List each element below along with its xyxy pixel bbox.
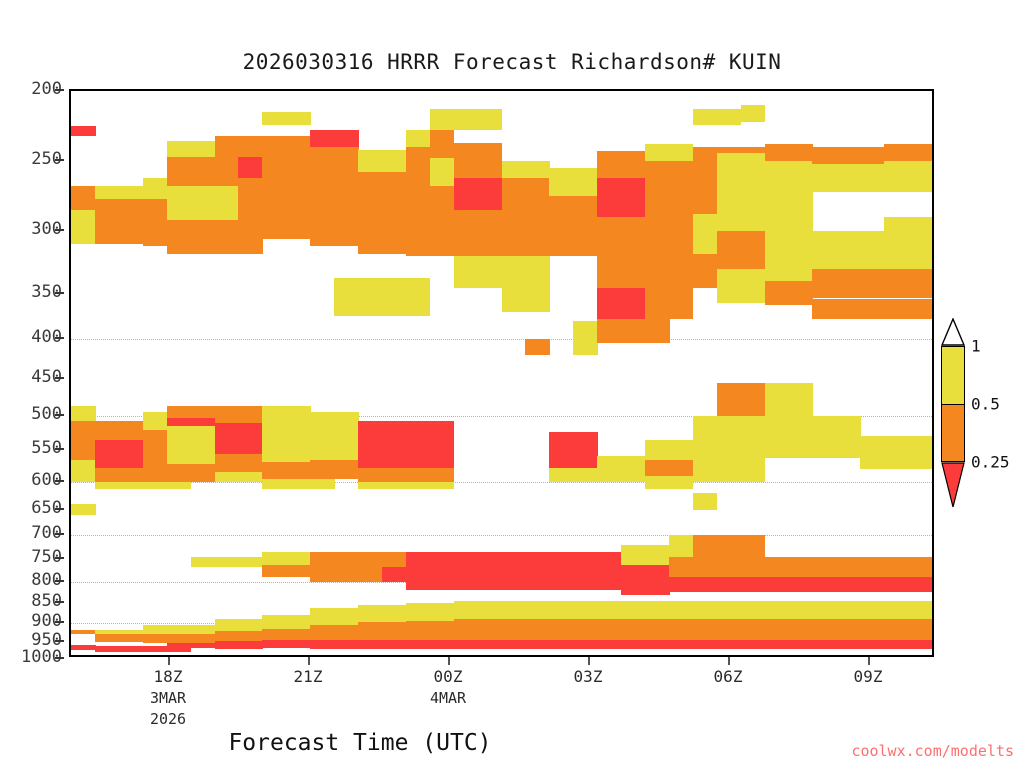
heatmap-cell: [645, 319, 670, 343]
heatmap-cell: [406, 147, 431, 178]
heatmap-cell: [454, 256, 479, 288]
y-tick-mark: [55, 508, 64, 510]
heatmap-cell: [454, 577, 479, 590]
heatmap-cell: [167, 464, 192, 482]
heatmap-cell: [334, 178, 359, 226]
heatmap-cell: [95, 440, 120, 468]
heatmap-cell: [669, 476, 694, 489]
heatmap-cell: [119, 646, 144, 651]
heatmap-cell: [836, 147, 861, 164]
y-tick-mark: [55, 448, 64, 450]
heatmap-cell: [621, 178, 646, 217]
heatmap-cell: [597, 319, 622, 343]
heatmap-cell: [645, 281, 670, 319]
y-tick-mark: [55, 292, 64, 294]
heatmap-cell: [573, 168, 598, 196]
heatmap-cell: [382, 172, 407, 196]
heatmap-cell: [812, 299, 837, 320]
x-tick-label: 18Z: [154, 667, 183, 686]
y-tick-mark: [55, 89, 64, 91]
heatmap-cell: [789, 601, 814, 619]
heatmap-cell: [71, 645, 96, 650]
heatmap-cell: [645, 545, 670, 565]
heatmap-cell: [597, 619, 622, 640]
heatmap-cell: [71, 126, 96, 136]
heatmap-cell: [645, 476, 670, 489]
heatmap-cell: [549, 432, 574, 449]
heatmap-cell: [430, 552, 455, 578]
heatmap-cell: [549, 577, 574, 590]
heatmap-cell: [884, 269, 909, 299]
heatmap-cell: [215, 406, 240, 422]
heatmap-cell: [238, 136, 263, 157]
y-tick-mark: [55, 580, 64, 582]
heatmap-cell: [143, 199, 168, 246]
heatmap-cell: [286, 406, 311, 419]
heatmap-cell: [789, 161, 814, 186]
heatmap-cell: [693, 601, 718, 619]
heatmap-cell: [789, 400, 814, 416]
heatmap-cell: [382, 231, 407, 254]
heatmap-cell: [765, 383, 790, 400]
x-tick-label: 03Z: [574, 667, 603, 686]
heatmap-cell: [358, 552, 383, 567]
heatmap-cell: [549, 552, 574, 578]
heatmap-cell: [908, 577, 932, 592]
heatmap-cell: [358, 278, 383, 316]
heatmap-cell: [525, 601, 550, 619]
heatmap-cell: [262, 615, 287, 629]
heatmap-cell: [502, 256, 527, 288]
heatmap-cell: [525, 256, 550, 288]
heatmap-cell: [334, 552, 359, 567]
heatmap-cell: [621, 619, 646, 640]
heatmap-cell: [430, 130, 455, 158]
heatmap-cell: [741, 383, 766, 400]
heatmap-cell: [693, 214, 718, 253]
heatmap-cell: [310, 552, 335, 567]
y-tick-mark: [55, 414, 64, 416]
heatmap-cell: [262, 479, 287, 488]
heatmap-cell: [645, 565, 670, 582]
heatmap-cell: [167, 648, 192, 652]
x-tick-mark: [868, 657, 870, 665]
heatmap-cell: [645, 161, 670, 196]
heatmap-cell: [717, 269, 742, 303]
heatmap-cell: [621, 217, 646, 256]
heatmap-cell: [286, 565, 311, 578]
colorbar-tick-label: 1: [971, 337, 981, 356]
heatmap-cell: [238, 220, 263, 254]
heatmap-cell: [621, 256, 646, 288]
heatmap-cell: [860, 269, 885, 299]
heatmap-cell: [597, 151, 622, 178]
heatmap-cell: [741, 400, 766, 416]
heatmap-cell: [406, 482, 431, 489]
heatmap-cell: [693, 436, 718, 457]
heatmap-cell: [836, 436, 861, 457]
heatmap-cell: [286, 136, 311, 178]
heatmap-cell: [717, 640, 742, 649]
heatmap-cell: [215, 557, 240, 567]
heatmap-cell: [836, 601, 861, 619]
x-tick-label: 09Z: [854, 667, 883, 686]
heatmap-cell: [693, 640, 718, 649]
heatmap-cell: [143, 464, 168, 482]
heatmap-cell: [860, 458, 885, 470]
heatmap-cell: [382, 150, 407, 172]
heatmap-cell: [717, 416, 742, 436]
heatmap-cell: [262, 552, 287, 565]
heatmap-cell: [143, 178, 168, 199]
heatmap-cell: [382, 196, 407, 231]
heatmap-cell: [908, 436, 932, 457]
heatmap-cell: [262, 178, 287, 220]
heatmap-cell: [741, 436, 766, 457]
y-tick-mark: [55, 159, 64, 161]
y-tick-mark: [55, 533, 64, 535]
heatmap-cell: [430, 577, 455, 590]
x-tick-mark: [448, 657, 450, 665]
x-axis-title: Forecast Time (UTC): [0, 730, 720, 756]
heatmap-cell: [286, 462, 311, 480]
heatmap-cell: [717, 601, 742, 619]
heatmap-cell: [143, 646, 168, 651]
heatmap-cell: [836, 619, 861, 640]
heatmap-cell: [95, 199, 120, 244]
x-tick-sublabel: 2026: [150, 710, 186, 728]
heatmap-cell: [238, 454, 263, 473]
heatmap-cell: [573, 619, 598, 640]
heatmap-cell: [502, 577, 527, 590]
heatmap-cell: [238, 178, 263, 220]
heatmap-cell: [573, 449, 598, 468]
heatmap-cell: [789, 557, 814, 578]
heatmap-cell: [502, 640, 527, 649]
heatmap-cell: [645, 640, 670, 649]
heatmap-cell: [502, 288, 527, 312]
heatmap-cell: [382, 421, 407, 443]
heatmap-cell: [597, 456, 622, 472]
heatmap-cell: [645, 582, 670, 595]
heatmap-cell: [286, 552, 311, 565]
heatmap-cell: [645, 601, 670, 619]
heatmap-cell: [693, 416, 718, 436]
heatmap-cell: [191, 634, 216, 642]
heatmap-cell: [693, 557, 718, 578]
heatmap-cell: [430, 186, 455, 231]
heatmap-cell: [167, 418, 192, 426]
heatmap-cell: [741, 153, 766, 187]
y-axis: 2002503003504004505005506006507007508008…: [0, 89, 62, 657]
heatmap-cell: [693, 577, 718, 592]
x-tick-mark: [168, 657, 170, 665]
heatmap-cell: [358, 172, 383, 196]
heatmap-cell: [502, 178, 527, 210]
heatmap-cell: [884, 577, 909, 592]
heatmap-cell: [310, 625, 335, 640]
heatmap-cell: [573, 321, 598, 343]
heatmap-cell: [884, 436, 909, 457]
heatmap-cell: [765, 161, 790, 186]
heatmap-cell: [478, 178, 503, 210]
y-tick-mark: [55, 229, 64, 231]
x-tick-label: 21Z: [294, 667, 323, 686]
heatmap-cell: [812, 557, 837, 578]
heatmap-cell: [71, 210, 96, 244]
heatmap-cell: [549, 196, 574, 231]
heatmap-cell: [908, 601, 932, 619]
heatmap-cell: [621, 288, 646, 320]
heatmap-cell: [741, 105, 766, 122]
colorbar-arrow-up: [941, 318, 965, 346]
plot-canvas: [71, 91, 932, 655]
heatmap-cell: [406, 577, 431, 590]
heatmap-cell: [262, 406, 287, 419]
heatmap-cell: [645, 144, 670, 161]
gridline: [71, 339, 932, 340]
heatmap-cell: [430, 443, 455, 468]
heatmap-cell: [119, 199, 144, 244]
heatmap-cell: [621, 472, 646, 482]
heatmap-cell: [238, 423, 263, 454]
heatmap-cell: [884, 601, 909, 619]
heatmap-cell: [573, 196, 598, 231]
x-tick-mark: [308, 657, 310, 665]
heatmap-cell: [908, 458, 932, 470]
heatmap-cell: [191, 141, 216, 156]
heatmap-cell: [215, 157, 240, 186]
heatmap-cell: [717, 436, 742, 457]
heatmap-cell: [765, 577, 790, 592]
heatmap-cell: [717, 383, 742, 400]
heatmap-cell: [430, 621, 455, 640]
heatmap-cell: [669, 144, 694, 161]
heatmap-cell: [358, 150, 383, 172]
heatmap-cell: [860, 164, 885, 192]
heatmap-cell: [860, 299, 885, 320]
heatmap-cell: [789, 577, 814, 592]
y-tick-mark: [55, 621, 64, 623]
heatmap-cell: [286, 112, 311, 125]
heatmap-cell: [406, 421, 431, 443]
heatmap-cell: [382, 482, 407, 489]
heatmap-cell: [765, 557, 790, 578]
heatmap-cell: [693, 172, 718, 214]
heatmap-cell: [502, 552, 527, 578]
heatmap-cell: [143, 482, 168, 489]
heatmap-cell: [549, 601, 574, 619]
heatmap-cell: [525, 178, 550, 210]
heatmap-cell: [71, 504, 96, 515]
heatmap-cell: [406, 231, 431, 256]
heatmap-cell: [789, 640, 814, 649]
heatmap-cell: [669, 440, 694, 460]
heatmap-cell: [286, 178, 311, 220]
heatmap-cell: [717, 400, 742, 416]
heatmap-cell: [789, 186, 814, 231]
heatmap-cell: [238, 619, 263, 631]
heatmap-cell: [884, 619, 909, 640]
heatmap-cell: [573, 601, 598, 619]
heatmap-cell: [860, 640, 885, 649]
heatmap-cell: [645, 196, 670, 237]
heatmap-cell: [789, 144, 814, 161]
heatmap-cell: [621, 565, 646, 582]
heatmap-cell: [789, 436, 814, 457]
heatmap-cell: [597, 178, 622, 217]
heatmap-cell: [741, 416, 766, 436]
heatmap-cell: [884, 161, 909, 192]
chart-root: 2026030316 HRRR Forecast Richardson# KUI…: [0, 0, 1024, 768]
heatmap-cell: [358, 640, 383, 649]
heatmap-cell: [358, 482, 383, 489]
heatmap-cell: [741, 535, 766, 557]
heatmap-cell: [310, 178, 335, 226]
heatmap-cell: [286, 629, 311, 640]
heatmap-cell: [238, 631, 263, 641]
heatmap-cell: [478, 552, 503, 578]
heatmap-cell: [95, 421, 120, 439]
heatmap-cell: [741, 640, 766, 649]
heatmap-cell: [406, 178, 431, 231]
heatmap-cell: [693, 147, 718, 172]
heatmap-cell: [382, 622, 407, 640]
heatmap-cell: [789, 231, 814, 281]
heatmap-cell: [525, 619, 550, 640]
heatmap-cell: [119, 468, 144, 482]
heatmap-cell: [238, 406, 263, 422]
heatmap-cell: [836, 416, 861, 436]
heatmap-cell: [71, 406, 96, 421]
heatmap-cell: [71, 630, 96, 635]
heatmap-cell: [478, 619, 503, 640]
heatmap-cell: [621, 545, 646, 565]
x-tick-mark: [588, 657, 590, 665]
heatmap-cell: [789, 281, 814, 304]
heatmap-cell: [191, 557, 216, 567]
heatmap-cell: [406, 621, 431, 640]
heatmap-cell: [310, 479, 335, 488]
heatmap-cell: [573, 343, 598, 355]
heatmap-cell: [454, 640, 479, 649]
heatmap-cell: [836, 640, 861, 649]
heatmap-cell: [884, 640, 909, 649]
heatmap-cell: [525, 288, 550, 312]
heatmap-cell: [765, 186, 790, 231]
heatmap-cell: [621, 319, 646, 343]
heatmap-cell: [334, 278, 359, 316]
heatmap-cell: [884, 299, 909, 320]
x-tick-sublabel: 4MAR: [430, 689, 466, 707]
heatmap-cell: [669, 161, 694, 196]
heatmap-cell: [789, 619, 814, 640]
heatmap-cell: [430, 482, 455, 489]
heatmap-cell: [502, 619, 527, 640]
heatmap-cell: [191, 186, 216, 220]
heatmap-cell: [717, 557, 742, 578]
heatmap-cell: [430, 231, 455, 256]
heatmap-cell: [310, 147, 335, 178]
heatmap-cell: [95, 646, 120, 651]
heatmap-cell: [191, 418, 216, 426]
heatmap-cell: [549, 640, 574, 649]
heatmap-cell: [358, 231, 383, 254]
colorbar-tick-label: 0.5: [971, 395, 1000, 414]
heatmap-cell: [765, 231, 790, 281]
plot-area: [69, 89, 934, 657]
heatmap-cell: [191, 464, 216, 482]
heatmap-cell: [597, 472, 622, 482]
heatmap-cell: [262, 419, 287, 461]
heatmap-cell: [358, 468, 383, 482]
heatmap-cell: [454, 210, 479, 256]
heatmap-cell: [812, 231, 837, 269]
heatmap-cell: [621, 601, 646, 619]
heatmap-cell: [908, 144, 932, 161]
x-tick-sublabel: 3MAR: [150, 689, 186, 707]
heatmap-cell: [621, 151, 646, 178]
heatmap-cell: [454, 552, 479, 578]
heatmap-cell: [334, 430, 359, 460]
heatmap-cell: [238, 641, 263, 649]
heatmap-cell: [597, 217, 622, 256]
heatmap-cell: [143, 625, 168, 634]
heatmap-cell: [765, 436, 790, 457]
heatmap-cell: [573, 468, 598, 482]
heatmap-cell: [669, 237, 694, 281]
heatmap-cell: [908, 619, 932, 640]
heatmap-cell: [597, 640, 622, 649]
heatmap-cell: [358, 443, 383, 468]
heatmap-cell: [669, 577, 694, 592]
heatmap-cell: [741, 601, 766, 619]
heatmap-cell: [884, 458, 909, 470]
heatmap-cell: [741, 557, 766, 578]
heatmap-cell: [430, 421, 455, 443]
heatmap-cell: [669, 557, 694, 578]
heatmap-cell: [262, 640, 287, 648]
heatmap-cell: [286, 640, 311, 648]
heatmap-cell: [765, 416, 790, 436]
heatmap-cell: [262, 462, 287, 480]
heatmap-cell: [215, 619, 240, 631]
heatmap-cell: [860, 601, 885, 619]
heatmap-cell: [884, 557, 909, 578]
heatmap-cell: [573, 640, 598, 649]
heatmap-cell: [717, 577, 742, 592]
heatmap-cell: [191, 426, 216, 464]
heatmap-cell: [191, 406, 216, 418]
heatmap-cell: [741, 186, 766, 231]
heatmap-cell: [860, 619, 885, 640]
y-tick-mark: [55, 337, 64, 339]
heatmap-cell: [478, 256, 503, 288]
heatmap-cell: [717, 231, 742, 269]
heatmap-cell: [525, 640, 550, 649]
heatmap-cell: [358, 605, 383, 622]
heatmap-cell: [525, 577, 550, 590]
heatmap-cell: [310, 412, 335, 429]
heatmap-cell: [693, 109, 718, 124]
heatmap-cell: [549, 231, 574, 256]
heatmap-cell: [765, 400, 790, 416]
heatmap-cell: [310, 430, 335, 460]
heatmap-cell: [334, 225, 359, 246]
heatmap-cell: [334, 460, 359, 480]
heatmap-cell: [669, 640, 694, 649]
heatmap-cell: [334, 640, 359, 649]
